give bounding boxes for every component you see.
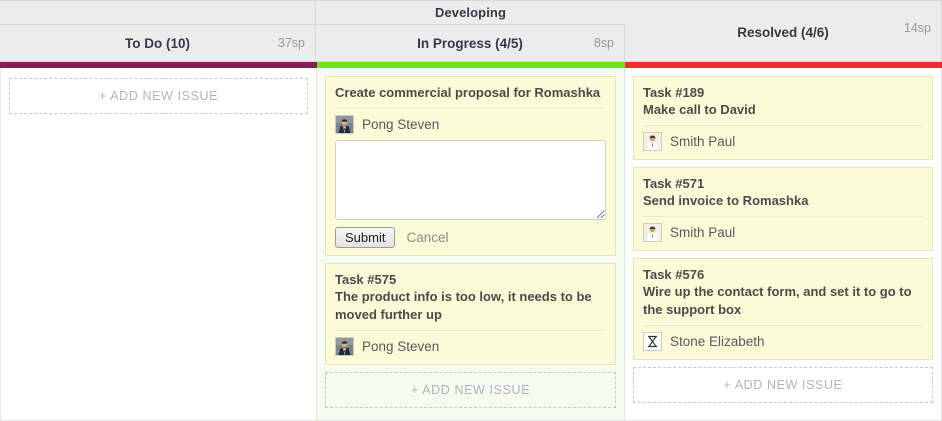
submit-button[interactable]: Submit [335, 227, 395, 248]
broken-image-icon [644, 333, 661, 350]
card-assignee: Smith Paul [643, 126, 923, 152]
column-storypoints-resolved: 14sp [904, 21, 931, 35]
card-assignee: Stone Elizabeth [643, 326, 923, 352]
card[interactable]: Task #571 Send invoice to Romashka [633, 167, 933, 251]
add-new-issue-in-progress[interactable]: + ADD NEW ISSUE [325, 372, 616, 408]
card-title: The product info is too low, it needs to… [335, 288, 606, 324]
avatar-photo-white-shirt-icon [644, 133, 661, 150]
column-title-todo: To Do (10) [0, 36, 315, 51]
column-header-in-progress[interactable]: In Progress (4/5) 8sp [316, 25, 625, 62]
board-columns: + ADD NEW ISSUE Create commercial propos… [0, 68, 942, 421]
column-storypoints-todo: 37sp [278, 36, 305, 50]
avatar-photo-white-shirt-icon [644, 224, 661, 241]
group-header-row: Developing [0, 0, 625, 25]
comment-input[interactable] [335, 140, 606, 220]
column-storypoints-in-progress: 8sp [594, 36, 614, 50]
header-left-group: Developing To Do (10) 37sp In Progress (… [0, 0, 625, 62]
card-title: Make call to David [643, 101, 923, 119]
card-id: Task #576 [643, 266, 923, 283]
card-assignee: Pong Steven [335, 331, 606, 357]
card-title: Wire up the contact form, and set it to … [643, 283, 923, 319]
add-new-issue-resolved[interactable]: + ADD NEW ISSUE [633, 367, 933, 403]
column-todo: + ADD NEW ISSUE [0, 68, 317, 421]
card[interactable]: Task #575 The product info is too low, i… [325, 263, 616, 365]
column-header-resolved[interactable]: Resolved (4/6) 14sp [625, 0, 942, 62]
column-in-progress: Create commercial proposal for Romashka [317, 68, 625, 421]
column-header-row: To Do (10) 37sp In Progress (4/5) 8sp [0, 25, 625, 62]
avatar-photo-dark-suit-icon [336, 116, 353, 133]
card-assignee: Smith Paul [643, 217, 923, 243]
avatar-photo-dark-suit-icon [336, 338, 353, 355]
card-id: Task #189 [643, 84, 923, 101]
card-assignee: Pong Steven [335, 109, 606, 135]
column-title-in-progress: In Progress (4/5) [316, 36, 624, 51]
avatar [335, 337, 354, 356]
card[interactable]: Create commercial proposal for Romashka [325, 76, 616, 256]
group-header-label: Developing [435, 5, 506, 20]
group-header-developing: Developing [316, 1, 625, 24]
avatar [643, 132, 662, 151]
card-assignee-name: Stone Elizabeth [670, 334, 765, 349]
column-title-resolved: Resolved (4/6) [625, 25, 941, 40]
card-title: Create commercial proposal for Romashka [335, 84, 606, 102]
column-header-todo[interactable]: To Do (10) 37sp [0, 25, 316, 62]
card[interactable]: Task #576 Wire up the contact form, and … [633, 258, 933, 360]
group-header-spacer [0, 1, 316, 24]
cancel-button[interactable]: Cancel [406, 230, 448, 245]
board-header: Developing To Do (10) 37sp In Progress (… [0, 0, 942, 62]
card-assignee-name: Smith Paul [670, 225, 735, 240]
card-assignee-name: Pong Steven [362, 339, 439, 354]
add-new-issue-todo[interactable]: + ADD NEW ISSUE [9, 78, 308, 114]
avatar [643, 332, 662, 351]
card-id: Task #571 [643, 175, 923, 192]
kanban-board: Developing To Do (10) 37sp In Progress (… [0, 0, 942, 421]
avatar [643, 223, 662, 242]
card[interactable]: Task #189 Make call to David [633, 76, 933, 160]
card-title: Send invoice to Romashka [643, 192, 923, 210]
compose-actions: Submit Cancel [335, 227, 606, 248]
card-assignee-name: Pong Steven [362, 117, 439, 132]
column-resolved: Task #189 Make call to David [625, 68, 942, 421]
card-assignee-name: Smith Paul [670, 134, 735, 149]
card-id: Task #575 [335, 271, 606, 288]
avatar [335, 115, 354, 134]
